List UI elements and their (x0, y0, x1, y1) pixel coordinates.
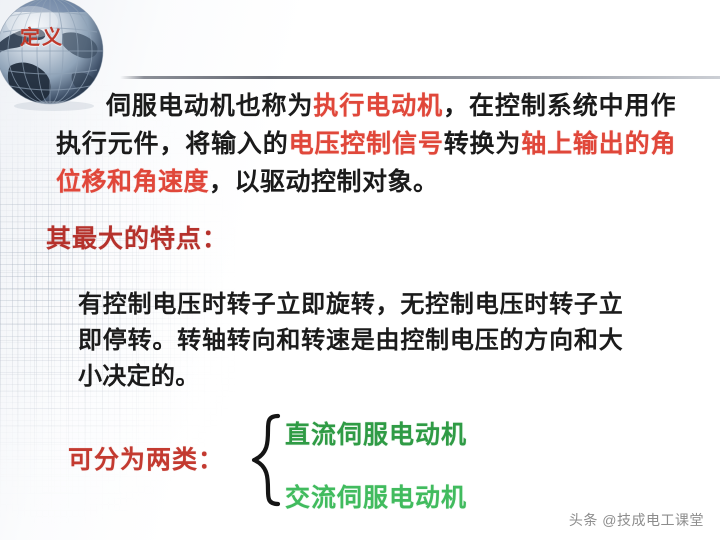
lead-paragraph: 伺服电动机也称为执行电动机，在控制系统中用作执行元件，将输入的电压控制信号转换为… (56, 88, 676, 202)
globe-badge-label: 定义 (20, 21, 64, 50)
lead-segment-1: 伺服电动机也称为 (106, 93, 313, 120)
classification-item-dc: 直流伺服电动机 (285, 415, 467, 451)
curly-brace (248, 412, 284, 508)
watermark: 头条 @技成电工课堂 (569, 510, 704, 530)
classification-item-ac: 交流伺服电动机 (285, 478, 467, 514)
lead-segment-5: 转换为 (444, 131, 522, 158)
header-divider (120, 76, 720, 79)
lead-segment-2-highlight: 执行电动机 (313, 93, 443, 120)
body-paragraph: 有控制电压时转子立即旋转，无控制电压时转子立即停转。转轴转向和转速是由控制电压的… (78, 287, 623, 395)
classification-label: 可分为两类： (68, 440, 224, 476)
lead-segment-4-highlight: 电压控制信号 (289, 131, 444, 158)
section-heading: 其最大的特点： (46, 219, 228, 255)
curly-brace-icon (248, 412, 284, 508)
lead-segment-7: ，以驱动控制对象。 (209, 169, 439, 196)
slide-canvas: 定义 伺服电动机也称为执行电动机，在控制系统中用作执行元件，将输入的电压控制信号… (0, 0, 720, 540)
